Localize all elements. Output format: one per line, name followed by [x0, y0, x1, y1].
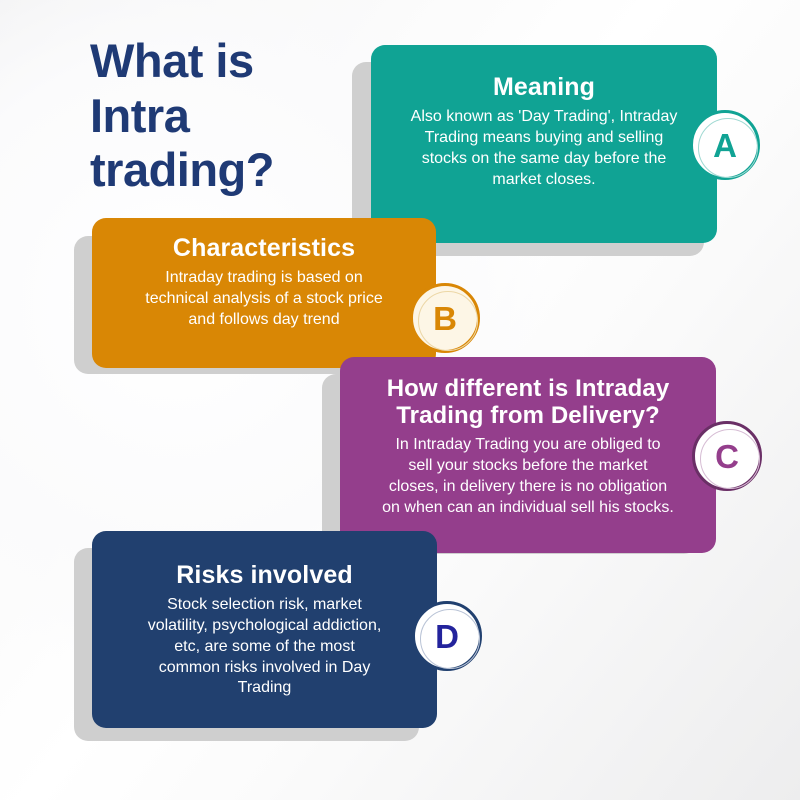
card-risks-title: Risks involved [118, 561, 411, 589]
card-meaning-body: Also known as 'Day Trading', Intraday Tr… [397, 107, 691, 190]
badge-d-letter: D [435, 620, 459, 653]
badge-c[interactable]: C [692, 421, 762, 491]
infographic-canvas: What is Intra trading? Meaning Also know… [0, 0, 800, 800]
card-meaning[interactable]: Meaning Also known as 'Day Trading', Int… [371, 45, 717, 243]
page-title: What is Intra trading? [90, 34, 380, 198]
card-characteristics-title: Characteristics [118, 234, 410, 262]
card-characteristics-body: Intraday trading is based on technical a… [118, 268, 410, 330]
card-risks[interactable]: Risks involved Stock selection risk, mar… [92, 531, 437, 728]
badge-a[interactable]: A [690, 110, 760, 180]
badge-d[interactable]: D [412, 601, 482, 671]
card-risks-body: Stock selection risk, market volatility,… [118, 595, 411, 699]
badge-a-letter: A [713, 129, 737, 162]
badge-b[interactable]: B [410, 283, 480, 353]
badge-b-letter: B [433, 302, 457, 335]
card-difference-title: How different is Intraday Trading from D… [366, 375, 690, 429]
card-meaning-title: Meaning [397, 73, 691, 101]
card-characteristics[interactable]: Characteristics Intraday trading is base… [92, 218, 436, 368]
badge-c-letter: C [715, 440, 739, 473]
card-difference-body: In Intraday Trading you are obliged to s… [366, 435, 690, 518]
card-difference[interactable]: How different is Intraday Trading from D… [340, 357, 716, 553]
